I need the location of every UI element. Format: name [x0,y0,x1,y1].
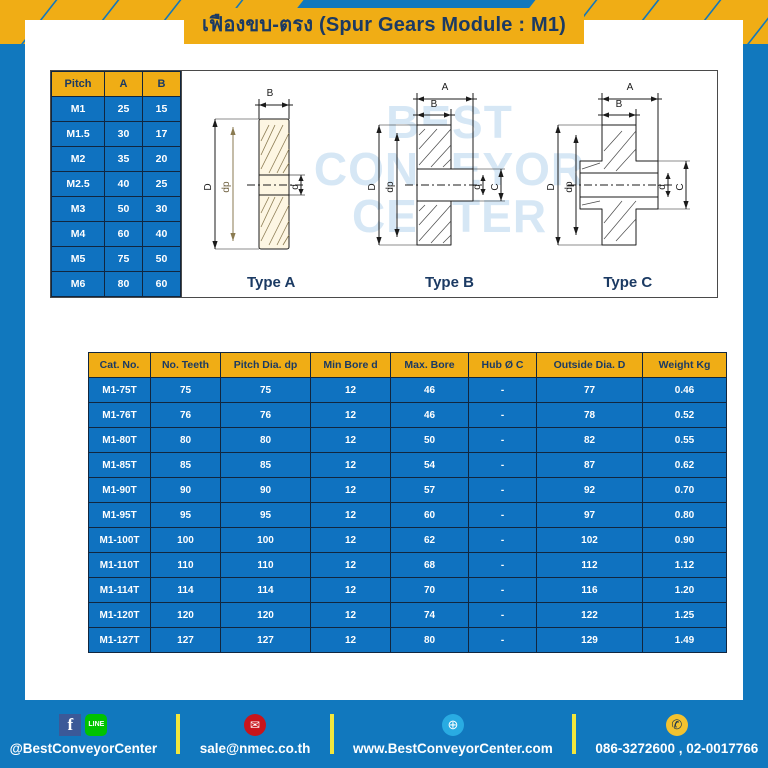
dim-label-b: B [267,88,274,99]
footer-icons: fLINE [59,712,107,738]
gear-type-a-drawing: B D dp d [191,77,351,272]
pitch-table-row: M1.53017 [52,122,181,147]
gear-type-c-drawing: A B D dp d C [544,77,712,272]
spec-cell: - [469,428,537,453]
spec-cell: 76 [221,403,311,428]
pitch-table-row: M68060 [52,272,181,297]
figure-label-type-c: Type C [539,274,717,291]
footer-contact-item[interactable]: ✉sale@nmec.co.th [200,712,311,756]
pitch-cell: 75 [105,247,143,272]
spec-cell: 74 [391,603,469,628]
table-row: M1-127T1271271280-1291.49 [89,628,727,653]
spec-cell: 46 [391,378,469,403]
pitch-table: Pitch A B M12515M1.53017M23520M2.54025M3… [51,71,181,297]
figure-type-a: B D dp d Type A [182,71,360,297]
table-row: M1-100T1001001262-1020.90 [89,528,727,553]
spec-cell: 12 [311,503,391,528]
spec-header-cell: Min Bore d [311,353,391,378]
spec-cell: 97 [537,503,643,528]
spec-cell: 0.80 [643,503,727,528]
dim-label-b: B [615,99,622,110]
table-row: M1-76T76761246-780.52 [89,403,727,428]
spec-cell: 12 [311,403,391,428]
page-title: เฟืองขบ-ตรง (Spur Gears Module : M1) [184,8,584,44]
table-row: M1-114T1141141270-1161.20 [89,578,727,603]
pitch-cell: M3 [52,197,105,222]
pitch-table-row: M12515 [52,97,181,122]
spec-cell: 102 [537,528,643,553]
spec-cell: 80 [221,428,311,453]
spec-cell: 1.49 [643,628,727,653]
spec-cell: 12 [311,453,391,478]
pitch-table-row: M57550 [52,247,181,272]
pitch-cell: 25 [143,172,181,197]
pitch-cell: 25 [105,97,143,122]
spec-cell: 95 [151,503,221,528]
spec-cell: 112 [537,553,643,578]
footer-contact-item[interactable]: fLINE@BestConveyorCenter [10,712,157,756]
pitch-table-row: M35030 [52,197,181,222]
spec-cell: 90 [151,478,221,503]
dim-label-d-bore: d [290,184,301,190]
pitch-cell: M2 [52,147,105,172]
spec-cell: 70 [391,578,469,603]
spec-cell: - [469,403,537,428]
spec-cell: 87 [537,453,643,478]
spec-cell: - [469,453,537,478]
pitch-cell: 17 [143,122,181,147]
spec-cell: M1-100T [89,528,151,553]
spec-cell: 120 [221,603,311,628]
table-row: M1-120T1201201274-1221.25 [89,603,727,628]
spec-cell: 116 [537,578,643,603]
spec-header-cell: Weight Kg [643,353,727,378]
figure-type-b: A B D dp d C Type B [360,71,538,297]
spec-cell: 80 [391,628,469,653]
spec-cell: 68 [391,553,469,578]
spec-cell: 1.25 [643,603,727,628]
pitch-cell: 50 [105,197,143,222]
spec-cell: - [469,378,537,403]
spec-cell: 1.20 [643,578,727,603]
dim-label-b: B [431,99,438,110]
footer-icons: ⊕ [442,712,464,738]
pitch-cell: 40 [105,172,143,197]
table-row: M1-85T85851254-870.62 [89,453,727,478]
spec-cell: 78 [537,403,643,428]
footer-contact-item[interactable]: ✆086-3272600 , 02-0017766 [595,712,758,756]
table-row: M1-75T75751246-770.46 [89,378,727,403]
dim-label-dp: dp [564,181,575,193]
dim-label-c: C [675,183,686,190]
spec-cell: 12 [311,378,391,403]
spec-cell: 122 [537,603,643,628]
spec-cell: 85 [221,453,311,478]
spec-cell: 92 [537,478,643,503]
pitch-cell: 60 [143,272,181,297]
spec-cell: M1-114T [89,578,151,603]
spec-cell: M1-85T [89,453,151,478]
spec-cell: - [469,628,537,653]
dim-label-d-bore: d [657,184,668,190]
spec-cell: 75 [151,378,221,403]
pitch-table-header-row: Pitch A B [52,72,181,97]
spec-cell: - [469,528,537,553]
spec-cell: 12 [311,478,391,503]
dim-label-d-bore: d [472,184,483,190]
spec-cell: - [469,478,537,503]
spec-cell: 100 [151,528,221,553]
spec-cell: 62 [391,528,469,553]
spec-cell: M1-90T [89,478,151,503]
spec-table-body: M1-75T75751246-770.46M1-76T76761246-780.… [89,378,727,653]
spec-cell: 114 [221,578,311,603]
facebook-icon[interactable]: f [59,714,81,736]
spec-header-cell: Cat. No. [89,353,151,378]
spec-header-cell: Hub Ø C [469,353,537,378]
spec-header-cell: Max. Bore [391,353,469,378]
page-title-wrap: เฟืองขบ-ตรง (Spur Gears Module : M1) [25,8,743,44]
pitch-header-a: A [105,72,143,97]
spec-cell: 77 [537,378,643,403]
globe-icon[interactable]: ⊕ [442,714,464,736]
pitch-header-pitch: Pitch [52,72,105,97]
dim-label-a: A [442,82,449,93]
phone-icon[interactable]: ✆ [666,714,688,736]
spec-cell: 129 [537,628,643,653]
spec-cell: 12 [311,628,391,653]
spec-cell: M1-76T [89,403,151,428]
table-row: M1-80T80801250-820.55 [89,428,727,453]
dim-label-d-outside: D [546,183,557,190]
email-icon[interactable]: ✉ [244,714,266,736]
footer-contact-text: sale@nmec.co.th [200,741,311,756]
spec-header-cell: No. Teeth [151,353,221,378]
pitch-cell: 15 [143,97,181,122]
footer-divider [330,714,334,754]
spec-cell: 120 [151,603,221,628]
spec-cell: M1-110T [89,553,151,578]
pitch-cell: 80 [105,272,143,297]
pitch-cell: 35 [105,147,143,172]
spec-cell: 76 [151,403,221,428]
spec-cell: 12 [311,578,391,603]
pitch-table-row: M23520 [52,147,181,172]
pitch-header-b: B [143,72,181,97]
figures-row: B D dp d Type A [182,71,717,297]
drawings-area: BEST CONVEYOR CENTER [181,71,717,297]
dim-label-d-outside: D [203,183,214,190]
spec-cell: M1-80T [89,428,151,453]
table-row: M1-110T1101101268-1121.12 [89,553,727,578]
spec-cell: 0.90 [643,528,727,553]
spec-cell: 12 [311,553,391,578]
table-row: M1-90T90901257-920.70 [89,478,727,503]
pitch-cell: 40 [143,222,181,247]
spec-cell: - [469,578,537,603]
spec-cell: 82 [537,428,643,453]
spec-cell: 12 [311,428,391,453]
spec-cell: 50 [391,428,469,453]
spec-cell: 85 [151,453,221,478]
spec-header-cell: Pitch Dia. dp [221,353,311,378]
figure-label-type-b: Type B [360,274,538,291]
pitch-cell: M1.5 [52,122,105,147]
figure-label-type-a: Type A [182,274,360,291]
pitch-table-body: M12515M1.53017M23520M2.54025M35030M46040… [52,97,181,297]
dim-label-a: A [626,82,633,93]
footer-icons: ✉ [244,712,266,738]
spec-cell: 1.12 [643,553,727,578]
spec-cell: 54 [391,453,469,478]
spec-cell: 0.62 [643,453,727,478]
dim-label-c: C [490,183,501,190]
pitch-cell: M2.5 [52,172,105,197]
footer-icons: ✆ [666,712,688,738]
spec-cell: 60 [391,503,469,528]
spec-cell: 110 [221,553,311,578]
pitch-cell: 20 [143,147,181,172]
spec-cell: - [469,603,537,628]
spec-cell: 0.55 [643,428,727,453]
spec-cell: 127 [151,628,221,653]
pitch-cell: 60 [105,222,143,247]
spec-cell: M1-127T [89,628,151,653]
spec-cell: M1-75T [89,378,151,403]
figure-type-c: A B D dp d C Type C [539,71,717,297]
pitch-cell: M1 [52,97,105,122]
spec-cell: 0.46 [643,378,727,403]
table-row: M1-95T95951260-970.80 [89,503,727,528]
spec-cell: 46 [391,403,469,428]
spec-cell: 100 [221,528,311,553]
spec-cell: 75 [221,378,311,403]
dim-label-d-outside: D [367,183,378,190]
dim-label-dp: dp [385,181,396,193]
gear-type-b-drawing: A B D dp d C [365,77,533,272]
footer-divider [572,714,576,754]
spec-cell: 127 [221,628,311,653]
footer-contact-item[interactable]: ⊕www.BestConveyorCenter.com [353,712,553,756]
pitch-cell: 30 [105,122,143,147]
spec-cell: 0.52 [643,403,727,428]
spec-cell: 0.70 [643,478,727,503]
spec-header-cell: Outside Dia. D [537,353,643,378]
footer-items: fLINE@BestConveyorCenter✉sale@nmec.co.th… [0,712,768,756]
pitch-cell: 30 [143,197,181,222]
pitch-table-row: M2.54025 [52,172,181,197]
pitch-table-row: M46040 [52,222,181,247]
pitch-cell: M6 [52,272,105,297]
footer-contact-bar: fLINE@BestConveyorCenter✉sale@nmec.co.th… [0,700,768,768]
footer-contact-text: www.BestConveyorCenter.com [353,741,553,756]
spec-cell: 90 [221,478,311,503]
dim-label-dp: dp [221,181,232,193]
spec-cell: 114 [151,578,221,603]
spec-cell: 95 [221,503,311,528]
footer-contact-text: @BestConveyorCenter [10,741,157,756]
pitch-cell: 50 [143,247,181,272]
spec-cell: M1-95T [89,503,151,528]
spec-table-header-row: Cat. No.No. TeethPitch Dia. dpMin Bore d… [89,353,727,378]
spec-cell: M1-120T [89,603,151,628]
pitch-cell: M5 [52,247,105,272]
spec-cell: 12 [311,603,391,628]
spec-cell: 57 [391,478,469,503]
line-icon[interactable]: LINE [85,714,107,736]
spec-cell: - [469,503,537,528]
spec-table: Cat. No.No. TeethPitch Dia. dpMin Bore d… [88,352,727,653]
footer-divider [176,714,180,754]
pitch-cell: M4 [52,222,105,247]
spec-cell: 80 [151,428,221,453]
upper-block: Pitch A B M12515M1.53017M23520M2.54025M3… [50,70,718,298]
spec-cell: - [469,553,537,578]
spec-cell: 12 [311,528,391,553]
spec-cell: 110 [151,553,221,578]
footer-contact-text: 086-3272600 , 02-0017766 [595,741,758,756]
